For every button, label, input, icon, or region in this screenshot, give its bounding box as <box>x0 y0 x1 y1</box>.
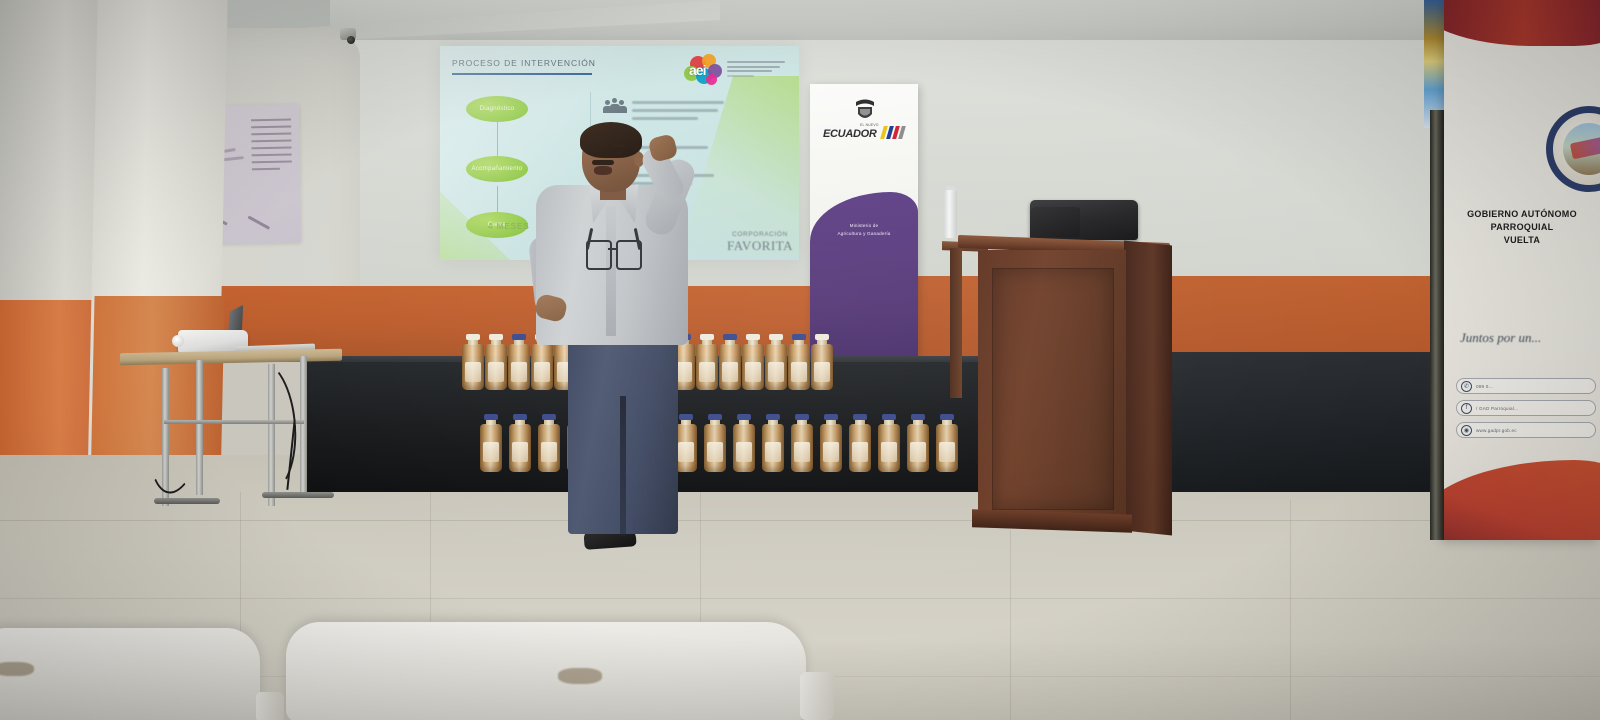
sponsor-line-1: CORPORACIÓN <box>727 231 793 238</box>
table-leg-front-right <box>300 356 307 496</box>
podium-side <box>1124 240 1172 535</box>
slide-step-1: Diagnóstico <box>466 96 528 122</box>
sponsor-line-2: FAVORITA <box>727 238 793 254</box>
presenter-mouth <box>594 166 612 175</box>
gad-slogan: Juntos por un... <box>1460 330 1600 356</box>
aei-logo: aei <box>682 54 790 88</box>
camera-body <box>1030 207 1080 237</box>
gad-contact-facebook: f / GAD Parroquial... <box>1456 400 1596 416</box>
slide-duration-label: 4 MESES <box>488 222 530 231</box>
aei-tagline <box>727 61 785 79</box>
banner-top-wave-red <box>1444 0 1600 46</box>
foreground-chair-leg <box>800 672 834 720</box>
gad-contact-list: ✆ 099 0... f / GAD Parroquial... ◉ www.g… <box>1456 378 1596 444</box>
ecuador-coat-of-arms-icon <box>854 98 876 124</box>
table-foot-left <box>154 498 220 504</box>
ecuador-flag-stripes <box>882 126 908 139</box>
foreground-chair-left[interactable] <box>0 628 260 720</box>
gad-contact-phone: ✆ 099 0... <box>1456 378 1596 394</box>
sponsor-logo-favorita: CORPORACIÓN FAVORITA <box>727 231 793 254</box>
banner-bottom-wave-red <box>1444 460 1600 540</box>
podium-front-panel <box>992 268 1114 510</box>
projector-lens-icon <box>172 335 184 347</box>
facebook-icon: f <box>1461 403 1472 414</box>
gad-title-line-2: PARROQUIAL <box>1444 221 1600 234</box>
security-camera-lens-icon <box>347 36 355 44</box>
gad-contact-web-text: www.gadpr.gob.ec <box>1476 428 1517 433</box>
gad-contact-facebook-text: / GAD Parroquial... <box>1476 406 1518 411</box>
phone-icon: ✆ <box>1461 381 1472 392</box>
gad-contact-web: ◉ www.gadpr.gob.ec <box>1456 422 1596 438</box>
gad-title-line-1: GOBIERNO AUTÓNOMO <box>1444 208 1600 221</box>
ecuador-wordmark: ECUADOR <box>823 128 877 140</box>
foreground-chair-center[interactable] <box>286 622 806 720</box>
presenter-hair <box>580 122 642 158</box>
ecuador-banner-small-text: EL NUEVO <box>860 123 879 127</box>
gad-contact-phone-text: 099 0... <box>1476 384 1493 389</box>
water-bottle <box>944 190 957 238</box>
presenter-moustache <box>592 160 614 165</box>
gad-banner-title: GOBIERNO AUTÓNOMO PARROQUIAL VUELTA <box>1444 208 1600 247</box>
presentation-room-photo: PROCESO DE INTERVENCIÓN Diagnóstico Acom… <box>0 0 1600 720</box>
aei-wordmark: aei <box>689 62 705 78</box>
globe-icon: ◉ <box>1461 425 1472 436</box>
people-group-icon <box>603 100 627 114</box>
presenter-trouser-seam <box>620 396 626 536</box>
stage-right-section <box>1165 352 1455 492</box>
eyeglasses-on-shirt <box>586 228 644 272</box>
slide-step-2: Acompañamiento <box>466 156 528 182</box>
foreground-chair-leg-2 <box>256 692 284 720</box>
ecuador-rollup-banner: EL NUEVO ECUADOR Ministerio deAgricultur… <box>810 84 918 362</box>
gad-title-line-3: VUELTA <box>1444 234 1600 247</box>
gad-seal-icon <box>1546 106 1600 192</box>
podium-shelf-leg <box>950 248 962 398</box>
slide-title: PROCESO DE INTERVENCIÓN <box>452 58 596 68</box>
ecuador-ministry-label: Ministerio deAgricultura y Ganadería <box>810 222 918 238</box>
gad-parroquial-rollup-banner: GOBIERNO AUTÓNOMO PARROQUIAL VUELTA Junt… <box>1444 0 1600 540</box>
slide-title-rule <box>452 73 592 75</box>
